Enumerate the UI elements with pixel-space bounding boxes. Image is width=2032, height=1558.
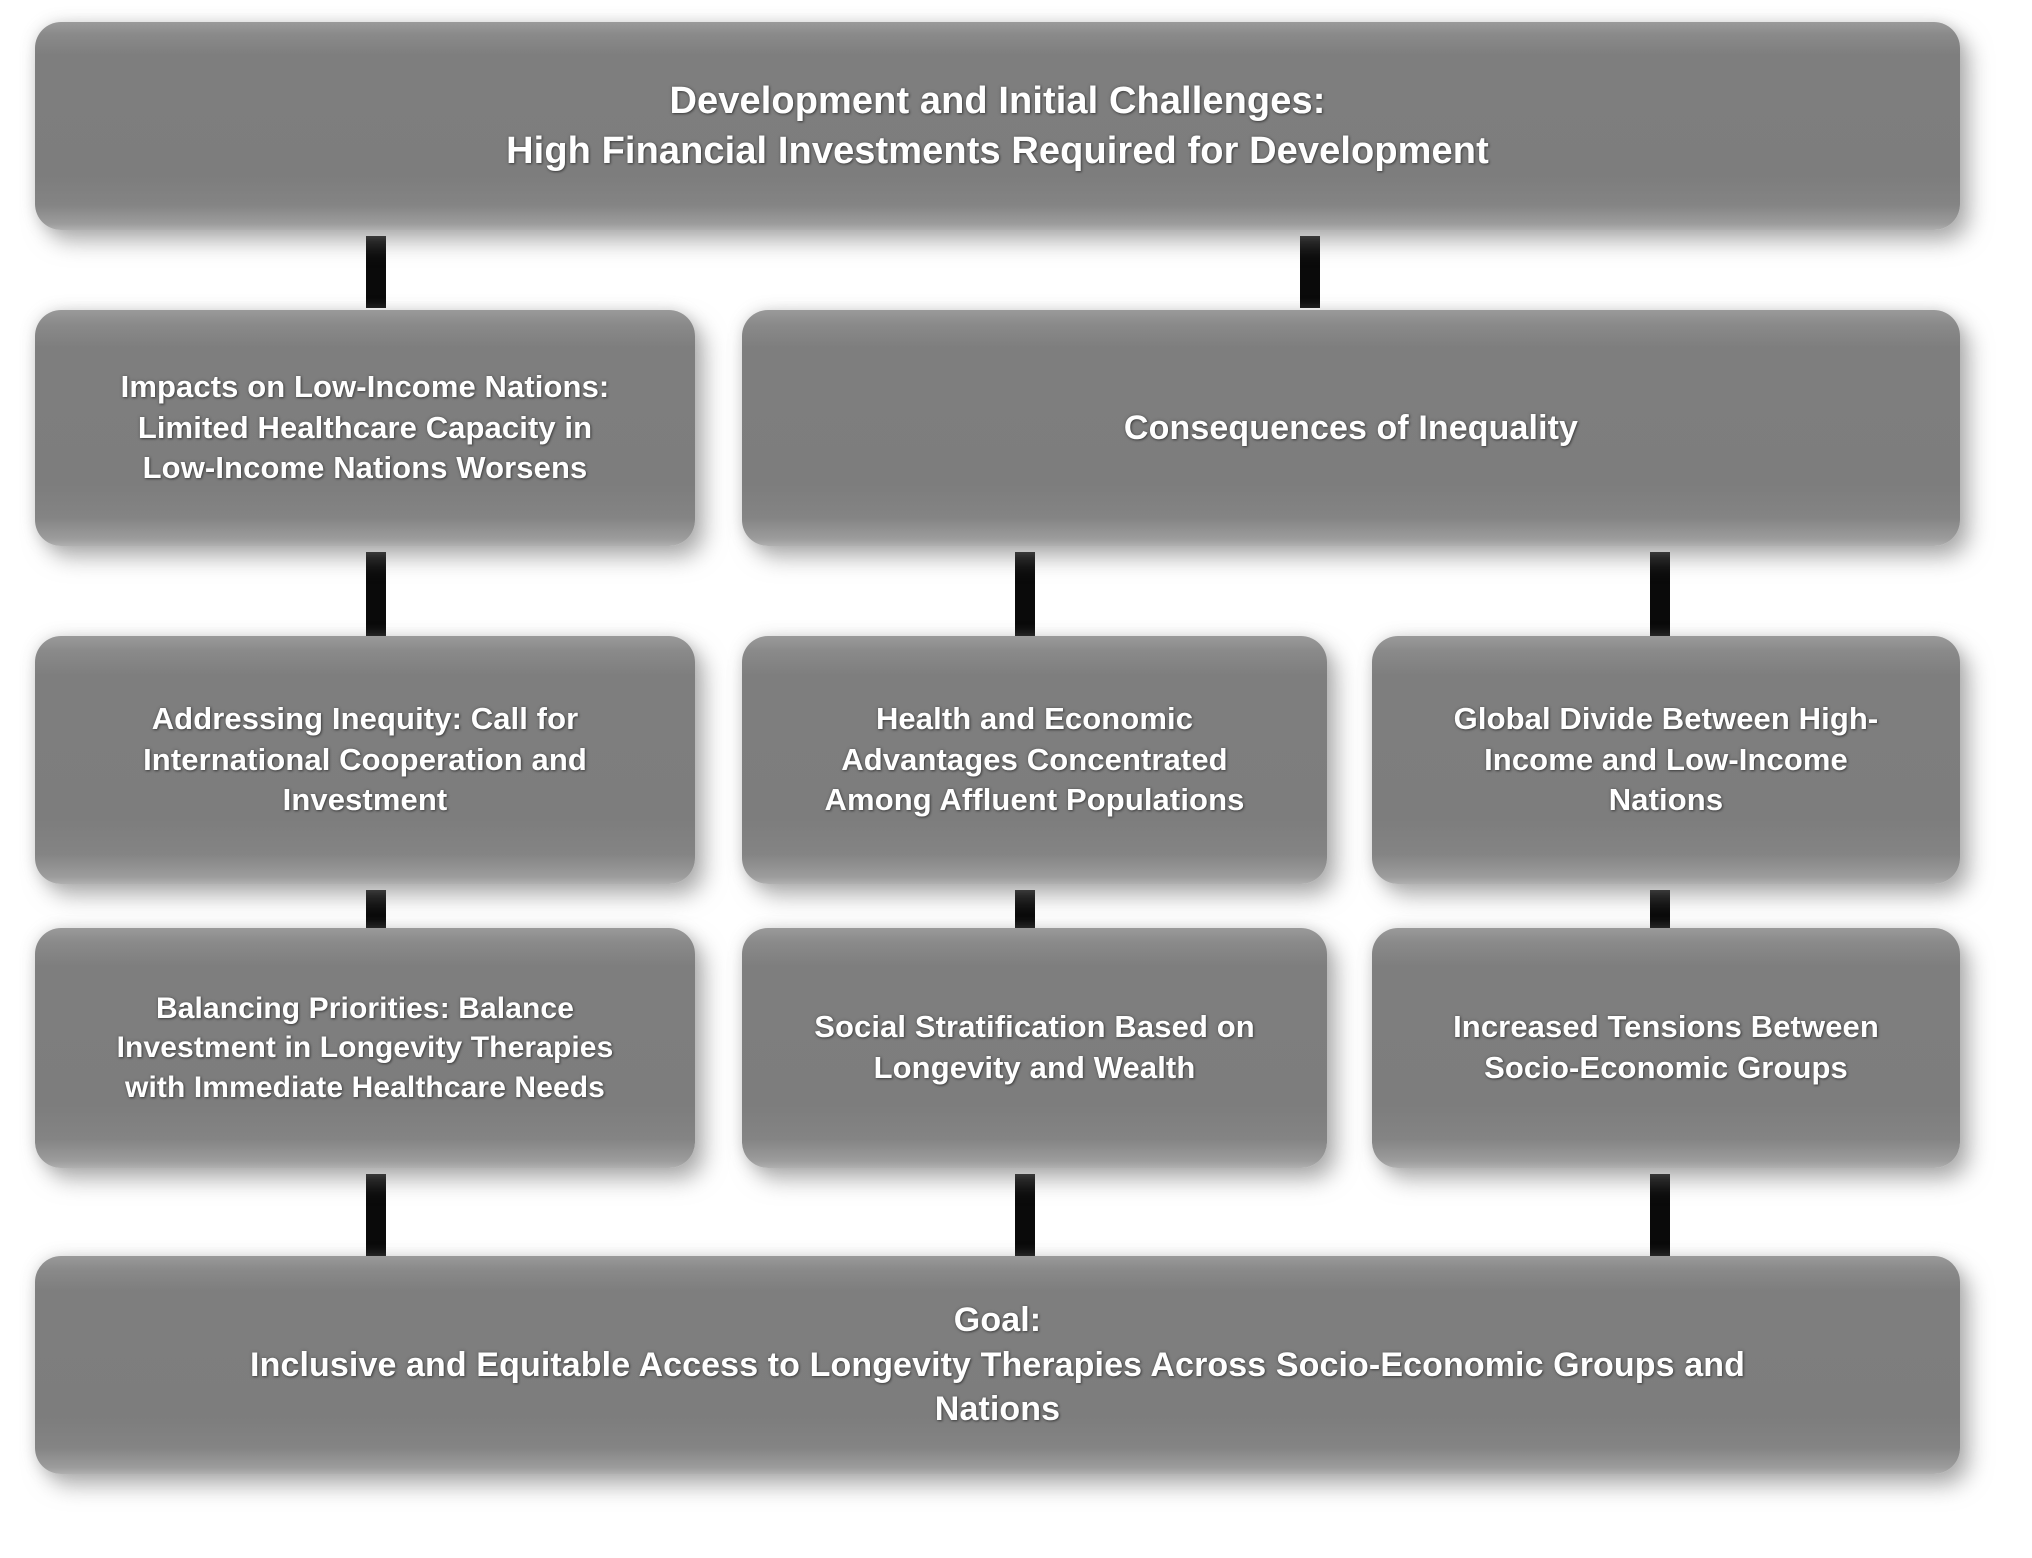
node-balancing-priorities[interactable]: Balancing Priorities: Balance Investment… <box>35 928 695 1168</box>
node-goal-label: Goal: Inclusive and Equitable Access to … <box>234 1298 1761 1433</box>
node-impacts-low-income-label: Impacts on Low-Income Nations: Limited H… <box>105 367 626 490</box>
node-consequences-inequality[interactable]: Consequences of Inequality <box>742 310 1960 546</box>
connector-consequences-to-health <box>1015 552 1035 636</box>
node-root[interactable]: Development and Initial Challenges: High… <box>35 22 1960 230</box>
node-health-economic-advantages-label: Health and Economic Advantages Concentra… <box>809 699 1261 822</box>
node-global-divide-label: Global Divide Between High- Income and L… <box>1438 699 1895 822</box>
node-addressing-inequity[interactable]: Addressing Inequity: Call for Internatio… <box>35 636 695 884</box>
connector-impacts-to-addressing <box>366 552 386 636</box>
flowchart-canvas: Development and Initial Challenges: High… <box>0 0 2032 1558</box>
node-addressing-inequity-label: Addressing Inequity: Call for Internatio… <box>127 699 603 822</box>
node-social-stratification[interactable]: Social Stratification Based on Longevity… <box>742 928 1327 1168</box>
node-social-stratification-label: Social Stratification Based on Longevity… <box>798 1007 1271 1089</box>
node-goal[interactable]: Goal: Inclusive and Equitable Access to … <box>35 1256 1960 1474</box>
node-global-divide[interactable]: Global Divide Between High- Income and L… <box>1372 636 1960 884</box>
connector-social-stratification-to-goal <box>1015 1174 1035 1256</box>
node-consequences-inequality-label: Consequences of Inequality <box>1108 406 1594 451</box>
connector-consequences-to-global-divide <box>1650 552 1670 636</box>
node-increased-tensions[interactable]: Increased Tensions Between Socio-Economi… <box>1372 928 1960 1168</box>
node-root-label: Development and Initial Challenges: High… <box>490 76 1505 176</box>
connector-tensions-to-goal <box>1650 1174 1670 1256</box>
node-impacts-low-income[interactable]: Impacts on Low-Income Nations: Limited H… <box>35 310 695 546</box>
node-health-economic-advantages[interactable]: Health and Economic Advantages Concentra… <box>742 636 1327 884</box>
connector-root-to-impacts <box>366 236 386 308</box>
connector-balancing-to-goal <box>366 1174 386 1256</box>
connector-root-to-consequences <box>1300 236 1320 308</box>
node-balancing-priorities-label: Balancing Priorities: Balance Investment… <box>101 989 630 1108</box>
node-increased-tensions-label: Increased Tensions Between Socio-Economi… <box>1437 1007 1895 1089</box>
